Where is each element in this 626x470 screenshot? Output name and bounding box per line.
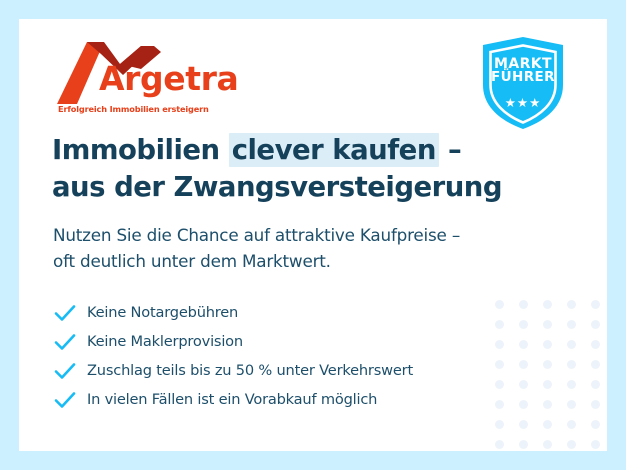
argetra-logo[interactable]: Argetra Erfolgreich Immobilien ersteiger…: [57, 42, 237, 120]
dot-grid-decoration: [487, 294, 607, 451]
logo-tagline: Erfolgreich Immobilien ersteigern: [58, 104, 209, 114]
list-item: Keine Notargebühren: [53, 298, 503, 327]
benefits-list: Keine Notargebühren Keine Maklerprovisio…: [53, 298, 503, 414]
markt-fuehrer-badge: MARKT FÜHRER ★★★: [477, 35, 569, 131]
benefit-label: Keine Maklerprovision: [87, 333, 243, 350]
page-title: Immobilien clever kaufen – aus der Zwang…: [52, 132, 522, 205]
headline-highlight: clever kaufen: [229, 133, 439, 167]
check-icon: [53, 391, 77, 409]
check-icon: [53, 362, 77, 380]
list-item: In vielen Fällen ist ein Vorabkauf mögli…: [53, 385, 503, 414]
subheading-line-1: Nutzen Sie die Chance auf attraktive Kau…: [53, 225, 460, 245]
check-icon: [53, 333, 77, 351]
list-item: Zuschlag teils bis zu 50 % unter Verkehr…: [53, 356, 503, 385]
headline-part-2: –: [439, 134, 461, 166]
benefit-label: In vielen Fällen ist ein Vorabkauf mögli…: [87, 391, 377, 408]
subheading: Nutzen Sie die Chance auf attraktive Kau…: [53, 222, 553, 274]
benefit-label: Keine Notargebühren: [87, 304, 238, 321]
promo-banner: Argetra Erfolgreich Immobilien ersteiger…: [0, 0, 626, 470]
banner-card: Argetra Erfolgreich Immobilien ersteiger…: [19, 19, 607, 451]
headline-part-1: Immobilien: [52, 134, 229, 166]
list-item: Keine Maklerprovision: [53, 327, 503, 356]
logo-wordmark: Argetra: [99, 62, 238, 95]
headline-line-2: aus der Zwangsversteigerung: [52, 171, 502, 203]
check-icon: [53, 304, 77, 322]
benefit-label: Zuschlag teils bis zu 50 % unter Verkehr…: [87, 362, 413, 379]
subheading-line-2: oft deutlich unter dem Marktwert.: [53, 251, 331, 271]
shield-icon: [477, 35, 569, 131]
